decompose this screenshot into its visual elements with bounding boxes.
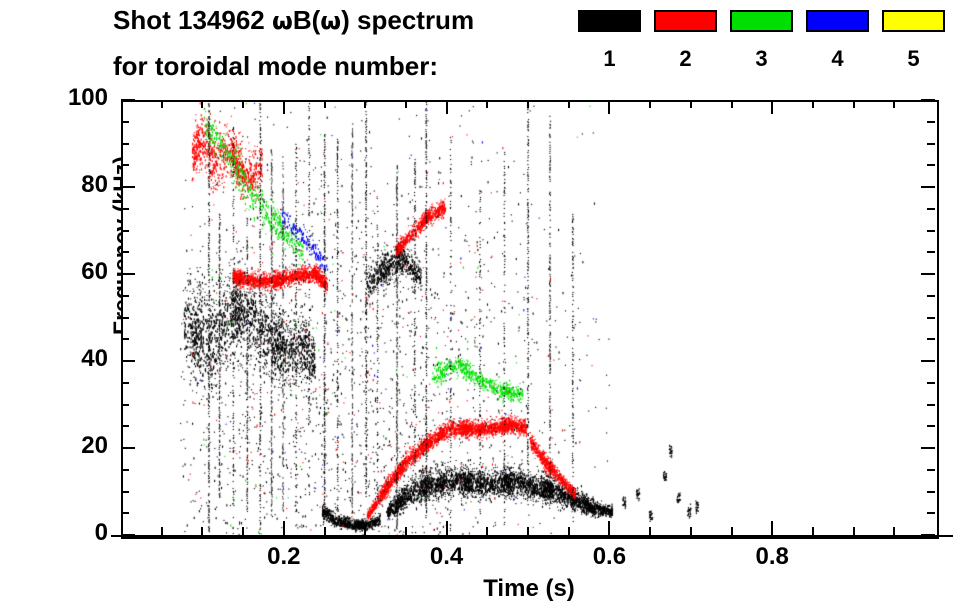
title-spectrum-text: ) spectrum	[341, 5, 474, 35]
y-tick-label-40: 40	[81, 345, 108, 373]
x-minor-tick	[405, 527, 407, 535]
x-major-tick	[608, 521, 610, 535]
legend-swatch-2	[654, 10, 717, 32]
legend-item-5: 5	[882, 10, 945, 72]
y-minor-tick	[121, 164, 129, 166]
legend-swatch-5	[882, 10, 945, 32]
x-minor-tick	[161, 100, 163, 108]
x-minor-tick	[364, 527, 366, 535]
x-minor-tick	[649, 527, 651, 535]
y-minor-tick	[121, 251, 129, 253]
x-minor-tick	[853, 527, 855, 535]
y-minor-tick	[121, 491, 129, 493]
x-minor-tick	[893, 527, 895, 535]
legend-label-2: 2	[654, 46, 717, 72]
y-major-tick	[921, 447, 935, 449]
y-minor-tick	[121, 404, 129, 406]
legend-swatch-1	[578, 10, 641, 32]
spectrogram-figure: Shot 134962 ωB(ω) spectrum for toroidal …	[0, 0, 963, 615]
x-minor-tick	[690, 100, 692, 108]
x-minor-tick	[324, 527, 326, 535]
x-minor-tick	[201, 527, 203, 535]
y-minor-tick	[927, 143, 935, 145]
y-major-tick	[921, 186, 935, 188]
legend-label-5: 5	[882, 46, 945, 72]
y-minor-tick	[927, 404, 935, 406]
x-minor-tick	[893, 100, 895, 108]
x-minor-tick	[527, 527, 529, 535]
legend-label-4: 4	[806, 46, 869, 72]
legend: 12345	[578, 10, 950, 88]
y-major-tick	[921, 273, 935, 275]
y-minor-tick	[121, 382, 129, 384]
y-minor-tick	[927, 382, 935, 384]
y-major-tick	[921, 360, 935, 362]
y-major-tick	[121, 99, 135, 101]
x-minor-tick	[324, 100, 326, 108]
y-major-tick	[121, 186, 135, 188]
x-minor-tick	[812, 100, 814, 108]
legend-item-4: 4	[806, 10, 869, 72]
x-major-tick	[771, 521, 773, 535]
x-tick-label-0.6: 0.6	[569, 543, 649, 571]
y-minor-tick	[121, 512, 129, 514]
y-tick-label-0: 0	[95, 519, 108, 547]
x-minor-tick	[405, 100, 407, 108]
omega-symbol-1: ω	[272, 7, 293, 35]
y-minor-tick	[927, 251, 935, 253]
y-major-tick	[121, 447, 135, 449]
y-major-tick	[921, 99, 935, 101]
y-minor-tick	[121, 469, 129, 471]
y-tick-label-20: 20	[81, 432, 108, 460]
legend-label-3: 3	[730, 46, 793, 72]
y-minor-tick	[927, 295, 935, 297]
y-tick-label-100: 100	[68, 84, 108, 112]
legend-label-1: 1	[578, 46, 641, 72]
x-minor-tick	[649, 100, 651, 108]
x-major-tick	[283, 521, 285, 535]
figure-title-line2: for toroidal mode number:	[113, 51, 438, 82]
x-tick-label-0.8: 0.8	[732, 543, 812, 571]
x-minor-tick	[161, 527, 163, 535]
y-minor-tick	[121, 338, 129, 340]
x-axis-line	[111, 535, 953, 537]
y-minor-tick	[121, 230, 129, 232]
y-minor-tick	[121, 317, 129, 319]
spectrogram-canvas	[123, 102, 937, 537]
y-major-tick	[921, 534, 935, 536]
y-minor-tick	[927, 164, 935, 166]
y-minor-tick	[121, 208, 129, 210]
x-minor-tick	[568, 100, 570, 108]
y-minor-tick	[927, 425, 935, 427]
x-minor-tick	[486, 527, 488, 535]
title-shot-text: Shot 134962	[113, 5, 272, 35]
x-axis-title: Time (s)	[409, 575, 649, 603]
x-minor-tick	[690, 527, 692, 535]
y-minor-tick	[927, 317, 935, 319]
x-minor-tick	[527, 100, 529, 108]
y-minor-tick	[927, 338, 935, 340]
x-major-tick	[446, 521, 448, 535]
x-minor-tick	[242, 100, 244, 108]
y-major-tick	[121, 534, 135, 536]
y-minor-tick	[121, 425, 129, 427]
legend-item-3: 3	[730, 10, 793, 72]
x-minor-tick	[812, 527, 814, 535]
x-tick-label-0.2: 0.2	[244, 543, 324, 571]
x-minor-tick	[568, 527, 570, 535]
y-minor-tick	[927, 512, 935, 514]
y-minor-tick	[927, 230, 935, 232]
x-tick-label-0.4: 0.4	[407, 543, 487, 571]
legend-item-1: 1	[578, 10, 641, 72]
y-minor-tick	[927, 491, 935, 493]
y-minor-tick	[121, 143, 129, 145]
x-minor-tick	[731, 527, 733, 535]
y-minor-tick	[927, 121, 935, 123]
x-major-tick	[283, 100, 285, 114]
title-b-open: B(	[293, 5, 320, 35]
y-major-tick	[121, 273, 135, 275]
x-major-tick	[446, 100, 448, 114]
y-axis-tick-labels: 020406080100	[0, 0, 108, 615]
x-major-tick	[771, 100, 773, 114]
figure-title-line1: Shot 134962 ωB(ω) spectrum	[113, 5, 474, 36]
legend-swatch-4	[806, 10, 869, 32]
omega-symbol-2: ω	[320, 7, 341, 35]
x-minor-tick	[242, 527, 244, 535]
y-minor-tick	[927, 208, 935, 210]
plot-area	[121, 100, 939, 539]
y-minor-tick	[927, 469, 935, 471]
legend-swatch-3	[730, 10, 793, 32]
y-major-tick	[121, 360, 135, 362]
x-minor-tick	[853, 100, 855, 108]
x-minor-tick	[364, 100, 366, 108]
y-tick-label-80: 80	[81, 171, 108, 199]
y-minor-tick	[121, 121, 129, 123]
x-minor-tick	[731, 100, 733, 108]
y-minor-tick	[121, 295, 129, 297]
x-minor-tick	[486, 100, 488, 108]
y-tick-label-60: 60	[81, 258, 108, 286]
x-major-tick	[608, 100, 610, 114]
x-minor-tick	[201, 100, 203, 108]
legend-item-2: 2	[654, 10, 717, 72]
